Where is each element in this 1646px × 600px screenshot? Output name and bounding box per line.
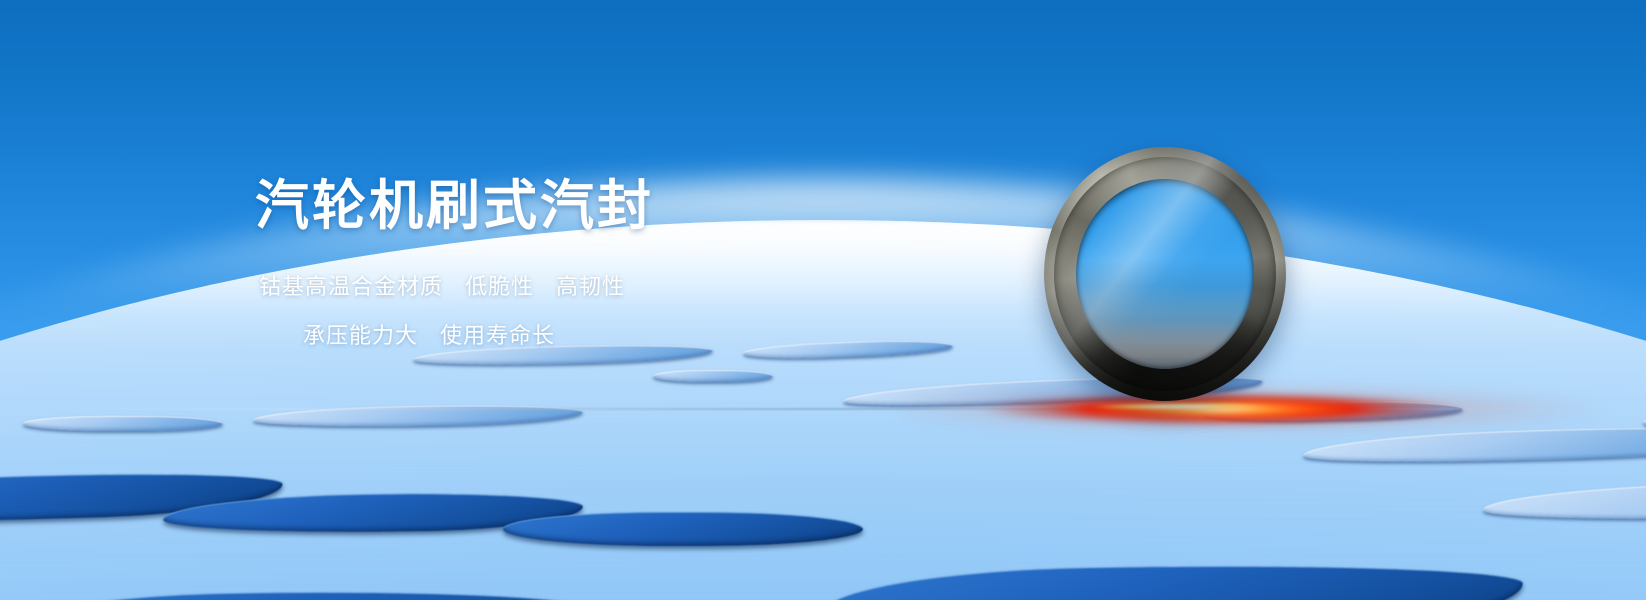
hero-banner: 汽轮机刷式汽封 钴基高温合金材质低脆性高韧性 承压能力大使用寿命长 <box>0 0 1646 600</box>
feature-item: 低脆性 <box>465 274 534 299</box>
product-image-brush-seal-ring <box>1044 147 1286 401</box>
landmass-shape <box>23 416 223 431</box>
feature-item: 钴基高温合金材质 <box>259 274 443 299</box>
landmass-shape <box>653 370 773 382</box>
ring-outer-band <box>1044 147 1286 401</box>
feature-item: 承压能力大 <box>303 323 418 348</box>
banner-feature-line-1: 钴基高温合金材质低脆性高韧性 <box>255 272 895 302</box>
feature-item: 使用寿命长 <box>440 323 555 348</box>
ring-bore <box>1076 179 1254 369</box>
banner-headline: 汽轮机刷式汽封 <box>255 176 895 236</box>
banner-copy: 汽轮机刷式汽封 钴基高温合金材质低脆性高韧性 承压能力大使用寿命长 <box>255 176 895 351</box>
feature-item: 高韧性 <box>556 274 625 299</box>
landmass-shape <box>503 512 863 546</box>
banner-feature-line-2: 承压能力大使用寿命长 <box>255 321 895 351</box>
ring-inner-lip <box>1054 157 1276 391</box>
